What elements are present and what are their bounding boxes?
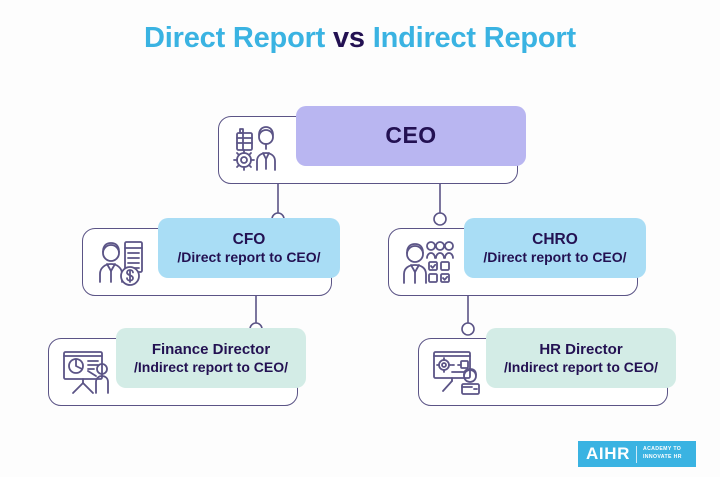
node-banner-ceo: CEO [296, 106, 526, 166]
infographic-canvas: Direct Report vs Indirect Report [0, 0, 720, 477]
aihr-logo: AIHR ACADEMY TO INNOVATE HR [578, 441, 696, 467]
org-node-hr-director[interactable]: HR Director /Indirect report to CEO/ [418, 328, 668, 406]
presentation-people-icon [430, 344, 486, 400]
logo-tagline: ACADEMY TO INNOVATE HR [643, 446, 682, 462]
node-subtitle-cfo: /Direct report to CEO/ [177, 249, 320, 266]
node-banner-cfo: CFO /Direct report to CEO/ [158, 218, 340, 278]
org-node-finance-director[interactable]: Finance Director /Indirect report to CEO… [48, 328, 298, 406]
org-node-chro[interactable]: CHRO /Direct report to CEO/ [388, 218, 638, 296]
node-title-finance-director: Finance Director [152, 341, 270, 359]
node-subtitle-finance-director: /Indirect report to CEO/ [134, 359, 288, 376]
presentation-chart-icon [60, 344, 116, 400]
node-banner-finance-director: Finance Director /Indirect report to CEO… [116, 328, 306, 388]
org-node-ceo[interactable]: CEO [218, 106, 518, 184]
node-title-ceo: CEO [385, 122, 436, 149]
finance-person-icon [94, 234, 150, 290]
logo-tagline-line2: INNOVATE HR [643, 454, 682, 460]
logo-wordmark: AIHR [586, 444, 630, 464]
executive-gear-icon [230, 122, 286, 178]
node-title-chro: CHRO [532, 231, 578, 249]
logo-tagline-line1: ACADEMY TO [643, 446, 681, 452]
node-banner-chro: CHRO /Direct report to CEO/ [464, 218, 646, 278]
node-subtitle-hr-director: /Indirect report to CEO/ [504, 359, 658, 376]
node-title-hr-director: HR Director [539, 341, 622, 359]
node-banner-hr-director: HR Director /Indirect report to CEO/ [486, 328, 676, 388]
node-title-cfo: CFO [233, 231, 266, 249]
logo-divider [636, 446, 637, 463]
org-node-cfo[interactable]: CFO /Direct report to CEO/ [82, 218, 332, 296]
node-subtitle-chro: /Direct report to CEO/ [483, 249, 626, 266]
hr-people-icon [400, 234, 456, 290]
